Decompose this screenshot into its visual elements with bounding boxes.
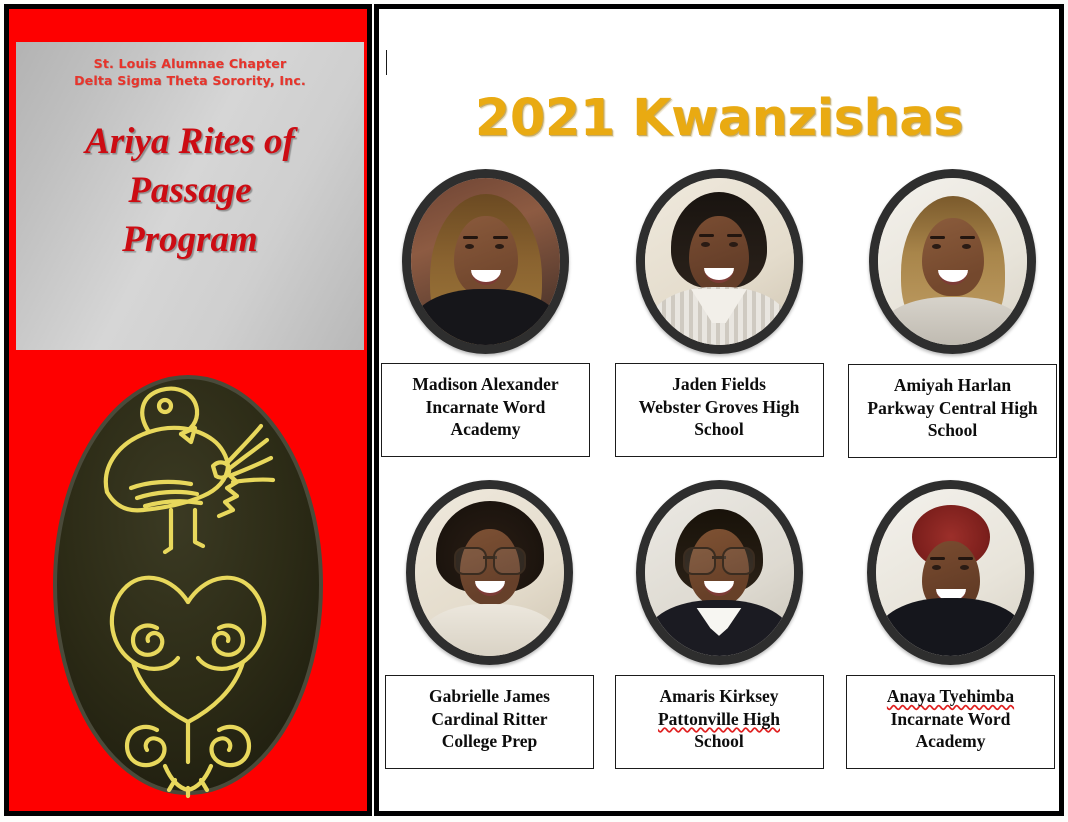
page-title: 2021 Kwanzishas: [379, 93, 1059, 144]
honoree-school-line-2: School: [688, 418, 750, 441]
honoree-caption: Anaya Tyehimba Incarnate Word Academy: [846, 675, 1055, 769]
honoree-card-jaden-fields[interactable]: Jaden Fields Webster Groves High School: [614, 169, 825, 458]
honoree-name: Jaden Fields: [666, 373, 772, 396]
portrait-jaden-fields: [636, 169, 803, 354]
text-cursor-caret: [386, 50, 387, 75]
program-title-line-2: Passage: [85, 166, 295, 215]
honoree-card-amaris-kirksey[interactable]: Amaris Kirksey Pattonville High School: [614, 480, 825, 769]
honoree-school-line-1: Webster Groves High: [633, 396, 806, 419]
honoree-row-2: Gabrielle James Cardinal Ritter College …: [379, 480, 1059, 769]
honoree-school-line-1: Incarnate Word: [420, 396, 552, 419]
portrait-anaya-tyehimba: [867, 480, 1034, 665]
honoree-school-line-2: Academy: [910, 730, 992, 753]
program-title-card: St. Louis Alumnae Chapter Delta Sigma Th…: [16, 42, 364, 350]
honoree-card-gabrielle-james[interactable]: Gabrielle James Cardinal Ritter College …: [384, 480, 595, 769]
left-red-panel: St. Louis Alumnae Chapter Delta Sigma Th…: [4, 4, 372, 816]
honoree-school-line-1: Cardinal Ritter: [425, 708, 553, 731]
honoree-name: Amaris Kirksey: [653, 685, 784, 708]
honoree-school-line-1: Parkway Central High: [861, 397, 1043, 420]
honoree-school-line-2: College Prep: [436, 730, 543, 753]
honoree-card-amiyah-harlan[interactable]: Amiyah Harlan Parkway Central High Schoo…: [847, 169, 1058, 458]
portrait-gabrielle-james: [406, 480, 573, 665]
honoree-name: Madison Alexander: [406, 373, 564, 396]
chapter-line-2: Delta Sigma Theta Sorority, Inc.: [74, 72, 306, 89]
honoree-caption: Gabrielle James Cardinal Ritter College …: [385, 675, 594, 769]
honoree-school-line-1: Pattonville High: [652, 708, 786, 731]
honoree-school-line-1: Incarnate Word: [885, 708, 1017, 731]
honoree-caption: Amiyah Harlan Parkway Central High Schoo…: [848, 364, 1057, 458]
program-title-line-3: Program: [85, 215, 295, 264]
honoree-school-line-2: School: [688, 730, 750, 753]
honoree-name: Gabrielle James: [423, 685, 556, 708]
portrait-madison-alexander: [402, 169, 569, 354]
chapter-heading: St. Louis Alumnae Chapter Delta Sigma Th…: [74, 55, 306, 90]
portrait-amiyah-harlan: [869, 169, 1036, 354]
honoree-row-1: Madison Alexander Incarnate Word Academy: [379, 169, 1059, 458]
honoree-card-anaya-tyehimba[interactable]: Anaya Tyehimba Incarnate Word Academy: [845, 480, 1056, 769]
honoree-caption: Jaden Fields Webster Groves High School: [615, 363, 824, 457]
honoree-caption: Madison Alexander Incarnate Word Academy: [381, 363, 590, 457]
slide-canvas: St. Louis Alumnae Chapter Delta Sigma Th…: [0, 0, 1068, 822]
honoree-name: Anaya Tyehimba: [881, 685, 1020, 708]
honoree-school-line-2: Academy: [445, 418, 527, 441]
honoree-grid: Madison Alexander Incarnate Word Academy: [379, 169, 1059, 769]
honoree-name: Amiyah Harlan: [888, 374, 1017, 397]
program-title: Ariya Rites of Passage Program: [71, 117, 309, 265]
honoree-caption: Amaris Kirksey Pattonville High School: [615, 675, 824, 769]
right-content-panel[interactable]: 2021 Kwanzishas: [374, 4, 1064, 816]
chapter-line-1: St. Louis Alumnae Chapter: [74, 55, 306, 72]
program-title-line-1: Ariya Rites of: [85, 117, 295, 166]
honoree-school-line-2: School: [922, 419, 984, 442]
sankofa-adinkra-emblem: [9, 355, 367, 815]
portrait-amaris-kirksey: [636, 480, 803, 665]
honoree-card-madison-alexander[interactable]: Madison Alexander Incarnate Word Academy: [380, 169, 591, 458]
